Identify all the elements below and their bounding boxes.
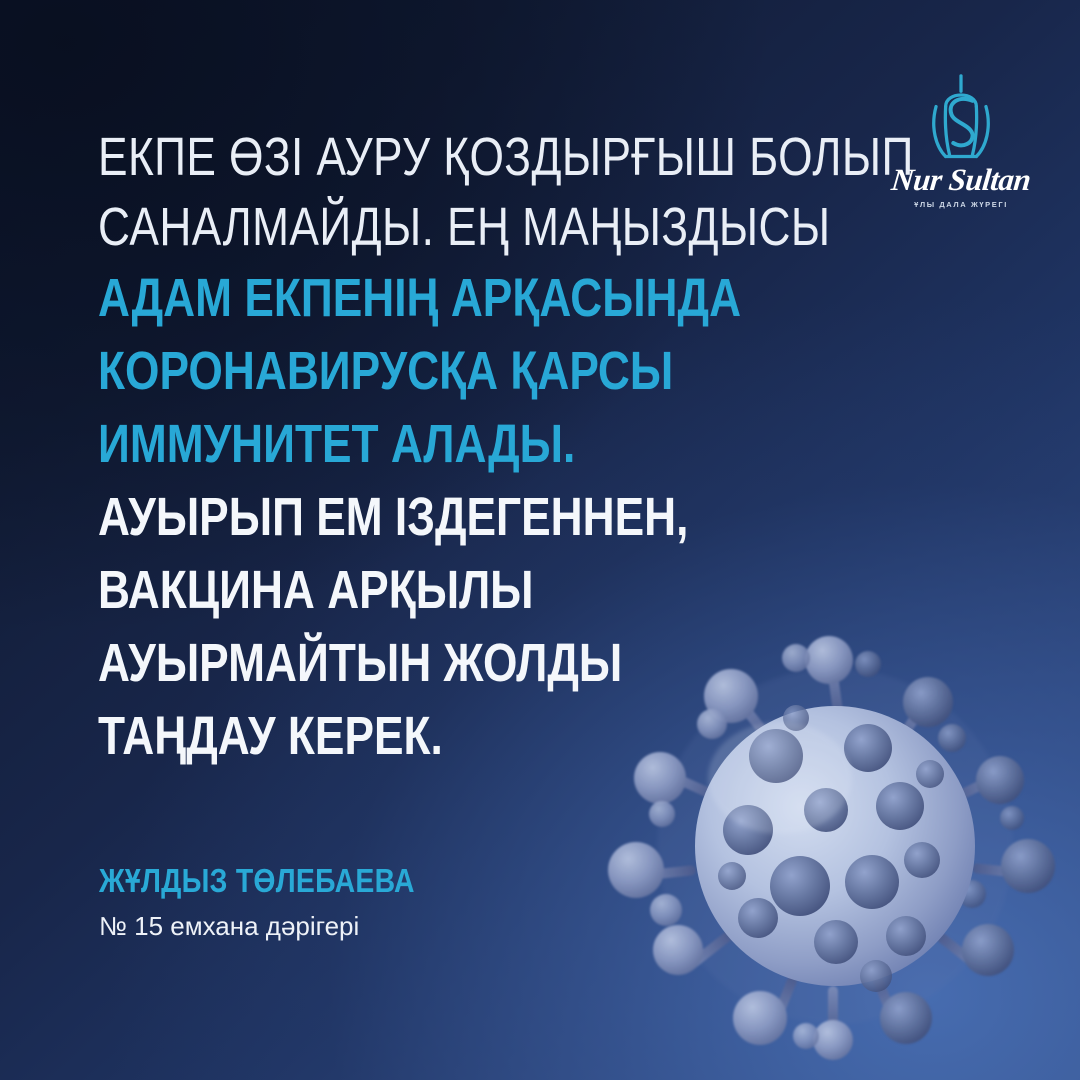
headline-line-7: ВАКЦИНА АРҚЫЛЫ <box>98 554 721 627</box>
author-role: № 15 емхана дәрігері <box>99 909 619 943</box>
headline-block: ЕКПЕ ӨЗІ АУРУ ҚОЗДЫРҒЫШ БОЛЫП САНАЛМАЙДЫ… <box>98 122 858 773</box>
headline-line-5: ИММУНИТЕТ АЛАДЫ. <box>98 408 721 481</box>
baiterek-tower-monogram-icon <box>913 72 1009 168</box>
attribution-block: ЖҰЛДЫЗ ТӨЛЕБАЕВА № 15 емхана дәрігері <box>99 862 619 943</box>
headline-line-9: ТАҢДАУ КЕРЕК. <box>98 700 721 773</box>
headline-line-3: АДАМ ЕКПЕНІҢ АРҚАСЫНДА <box>98 262 721 335</box>
headline-line-8: АУЫРМАЙТЫН ЖОЛДЫ <box>98 627 721 700</box>
headline-line-1: ЕКПЕ ӨЗІ АУРУ ҚОЗДЫРҒЫШ БОЛЫП <box>98 122 721 192</box>
author-name: ЖҰЛДЫЗ ТӨЛЕБАЕВА <box>99 862 546 900</box>
headline-line-6: АУЫРЫП ЕМ ІЗДЕГЕННЕН, <box>98 481 721 554</box>
logo-tagline: ҰЛЫ ДАЛА ЖҮРЕГІ <box>880 200 1042 209</box>
headline-line-4: КОРОНАВИРУСҚА ҚАРСЫ <box>98 335 721 408</box>
poster-canvas: Nur Sultan ҰЛЫ ДАЛА ЖҮРЕГІ ЕКПЕ ӨЗІ АУРУ… <box>0 0 1080 1080</box>
headline-line-2: САНАЛМАЙДЫ. ЕҢ МАҢЫЗДЫСЫ <box>98 192 721 262</box>
